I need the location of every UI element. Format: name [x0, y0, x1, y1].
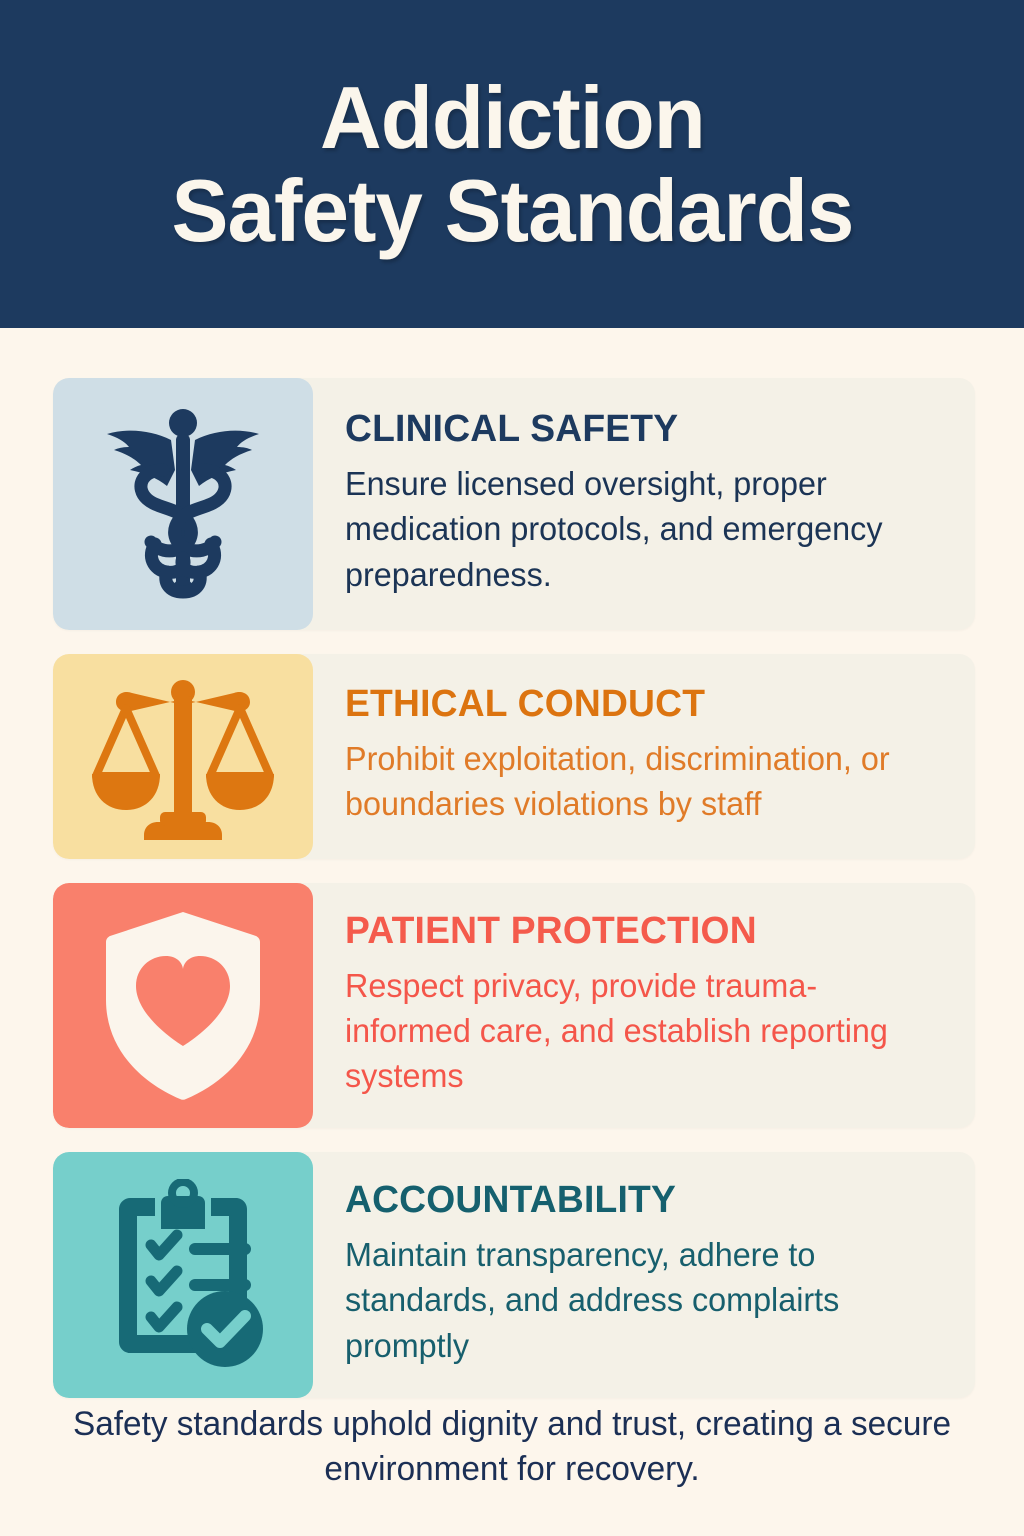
standard-card-accountability: ACCOUNTABILITY Maintain transparency, ad… [53, 1152, 975, 1397]
card-body: ETHICAL CONDUCT Prohibit exploitation, d… [313, 654, 975, 859]
standard-card-clinical-safety: CLINICAL SAFETY Ensure licensed oversigh… [53, 378, 975, 630]
card-body: ACCOUNTABILITY Maintain transparency, ad… [313, 1152, 975, 1397]
caduceus-icon [93, 404, 273, 604]
shield-heart-icon-tile [53, 883, 313, 1128]
footer-summary-text: Safety standards uphold dignity and trus… [69, 1402, 955, 1492]
card-title: ETHICAL CONDUCT [345, 684, 937, 726]
page-title-line-2: Safety Standards [171, 164, 853, 257]
balance-scales-icon [88, 672, 278, 842]
card-title: CLINICAL SAFETY [345, 409, 937, 451]
page-title: Addiction Safety Standards [171, 71, 853, 258]
clipboard-checklist-icon-tile [53, 1152, 313, 1397]
standard-card-patient-protection: PATIENT PROTECTION Respect privacy, prov… [53, 883, 975, 1128]
card-description: Respect privacy, provide trauma-informed… [345, 963, 937, 1099]
poster-footer: Safety standards uphold dignity and trus… [0, 1402, 1024, 1536]
card-description: Ensure licensed oversight, proper medica… [345, 461, 937, 597]
poster-header: Addiction Safety Standards [0, 0, 1024, 328]
balance-scales-icon-tile [53, 654, 313, 859]
card-description: Maintain transparency, adhere to standar… [345, 1232, 937, 1368]
card-title: ACCOUNTABILITY [345, 1180, 937, 1222]
card-body: CLINICAL SAFETY Ensure licensed oversigh… [313, 378, 975, 630]
shield-heart-icon [98, 908, 268, 1104]
infographic-poster: Addiction Safety Standards [0, 0, 1024, 1536]
standard-card-ethical-conduct: ETHICAL CONDUCT Prohibit exploitation, d… [53, 654, 975, 859]
card-title: PATIENT PROTECTION [345, 911, 937, 953]
caduceus-icon-tile [53, 378, 313, 630]
standards-list: CLINICAL SAFETY Ensure licensed oversigh… [0, 328, 1024, 1398]
page-title-line-1: Addiction [171, 71, 853, 164]
card-description: Prohibit exploitation, discrimination, o… [345, 736, 937, 826]
card-body: PATIENT PROTECTION Respect privacy, prov… [313, 883, 975, 1128]
clipboard-checklist-icon [93, 1179, 273, 1371]
